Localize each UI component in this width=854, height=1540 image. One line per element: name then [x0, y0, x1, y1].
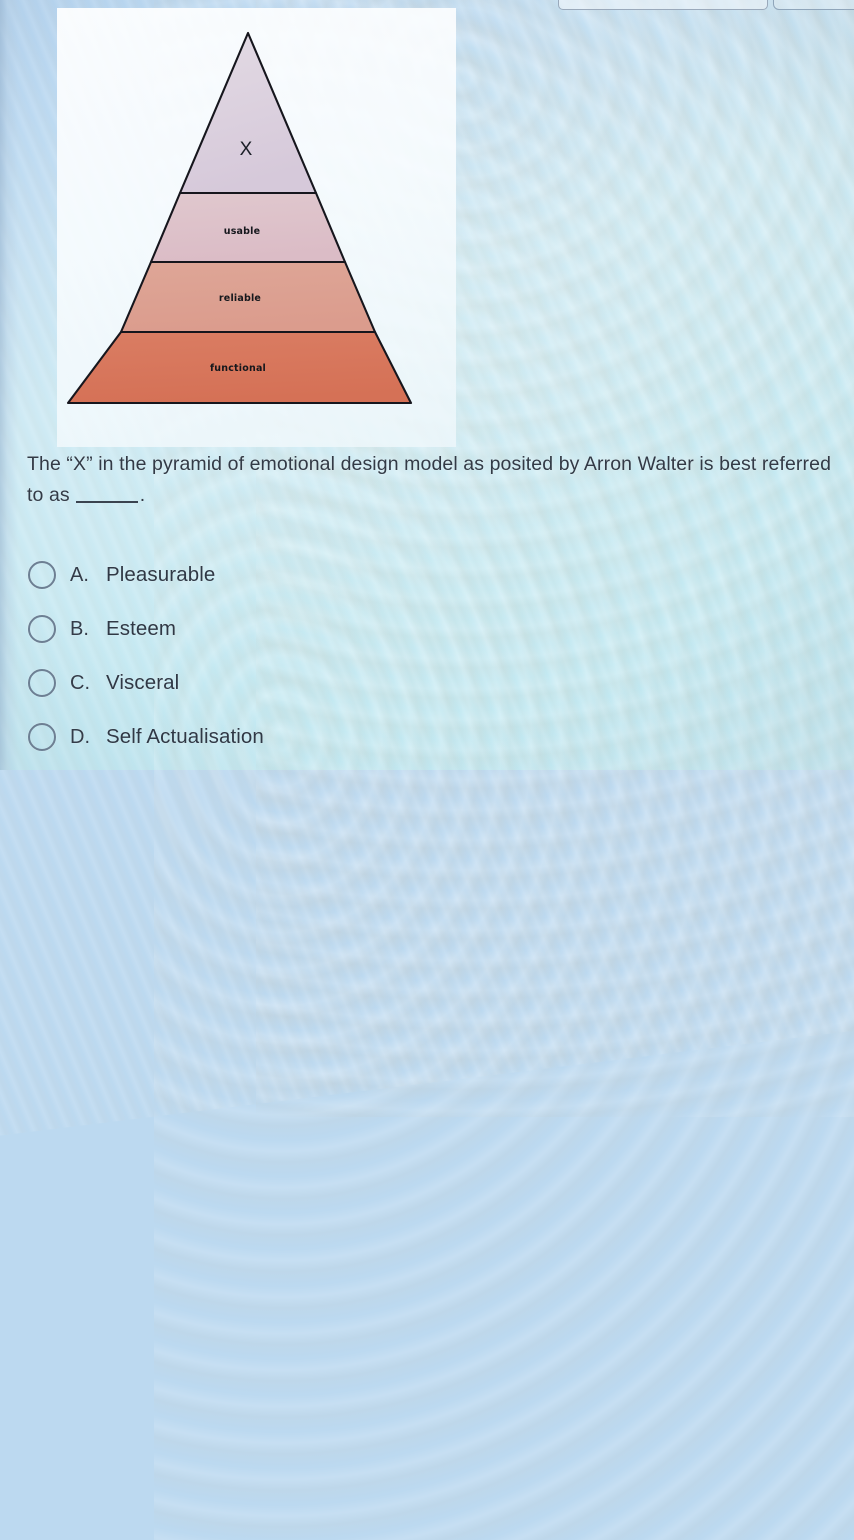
option-text-d: Self Actualisation [106, 725, 264, 749]
option-letter-a: A. [70, 564, 96, 587]
option-row-b[interactable]: B. Esteem [28, 602, 528, 656]
figure-image-card [57, 8, 456, 447]
option-letter-d: D. [70, 726, 96, 749]
option-row-d[interactable]: D. Self Actualisation [28, 710, 528, 764]
option-text-c: Visceral [106, 671, 179, 695]
answer-options-list: A. Pleasurable B. Esteem C. Visceral D. … [28, 548, 528, 764]
radio-button-b[interactable] [28, 615, 56, 643]
option-row-c[interactable]: C. Visceral [28, 656, 528, 710]
option-row-a[interactable]: A. Pleasurable [28, 548, 528, 602]
radio-button-d[interactable] [28, 723, 56, 751]
option-letter-b: B. [70, 618, 96, 641]
question-text: The “X” in the pyramid of emotional desi… [27, 453, 831, 506]
radio-button-a[interactable] [28, 561, 56, 589]
option-letter-c: C. [70, 672, 96, 695]
option-text-a: Pleasurable [106, 563, 215, 587]
answer-blank [76, 487, 138, 503]
question-prompt: The “X” in the pyramid of emotional desi… [27, 449, 837, 511]
question-terminator: . [140, 484, 146, 506]
option-text-b: Esteem [106, 617, 176, 641]
radio-button-c[interactable] [28, 669, 56, 697]
